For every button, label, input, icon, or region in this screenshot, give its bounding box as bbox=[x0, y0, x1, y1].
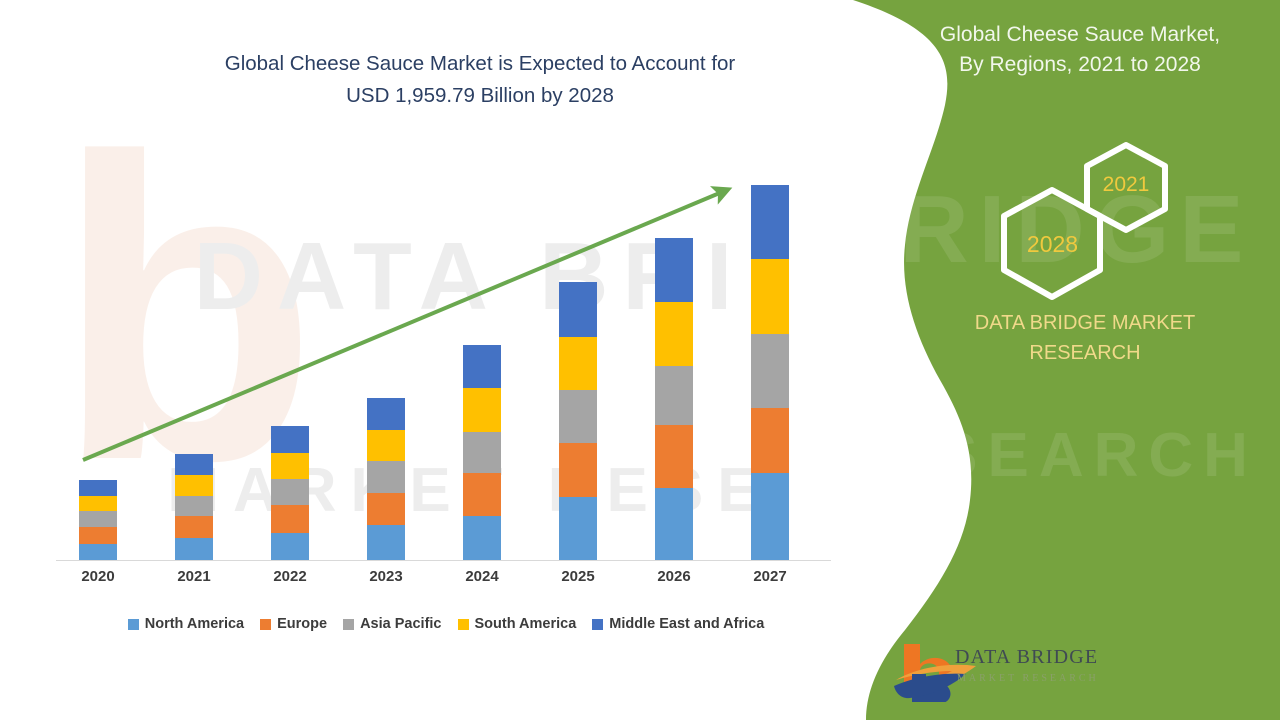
x-tick-2022: 2022 bbox=[252, 568, 328, 585]
legend-item-asia-pacific[interactable]: Asia Pacific bbox=[343, 616, 441, 632]
bar-column-2020[interactable] bbox=[79, 480, 117, 560]
chart-legend: North AmericaEuropeAsia PacificSouth Ame… bbox=[56, 616, 836, 632]
bar-segment-middle-east-and-africa[interactable] bbox=[559, 282, 597, 337]
bar-segment-middle-east-and-africa[interactable] bbox=[367, 398, 405, 430]
bar-segment-south-america[interactable] bbox=[367, 430, 405, 461]
bar-segment-asia-pacific[interactable] bbox=[463, 432, 501, 473]
legend-swatch-north-america bbox=[128, 619, 139, 630]
legend-item-europe[interactable]: Europe bbox=[260, 616, 327, 632]
panel-title-line-2: By Regions, 2021 to 2028 bbox=[900, 50, 1260, 80]
bar-segment-asia-pacific[interactable] bbox=[751, 334, 789, 408]
x-tick-2025: 2025 bbox=[540, 568, 616, 585]
bar-segment-north-america[interactable] bbox=[79, 544, 117, 560]
hexagon-label-2028: 2028 bbox=[995, 231, 1110, 258]
bar-segment-south-america[interactable] bbox=[79, 496, 117, 511]
legend-item-south-america[interactable]: South America bbox=[458, 616, 577, 632]
x-tick-2027: 2027 bbox=[732, 568, 808, 585]
legend-label-asia-pacific: Asia Pacific bbox=[360, 616, 441, 632]
bar-segment-europe[interactable] bbox=[271, 505, 309, 533]
bar-column-2027[interactable] bbox=[751, 185, 789, 560]
bar-column-2022[interactable] bbox=[271, 426, 309, 560]
bar-segment-middle-east-and-africa[interactable] bbox=[175, 454, 213, 475]
chart-plot-area bbox=[56, 160, 831, 560]
panel-watermark-line-2: RESEARCH bbox=[830, 420, 1258, 491]
x-tick-2026: 2026 bbox=[636, 568, 712, 585]
panel-title-line-1: Global Cheese Sauce Market, bbox=[900, 20, 1260, 50]
legend-label-south-america: South America bbox=[475, 616, 577, 632]
legend-item-middle-east-and-africa[interactable]: Middle East and Africa bbox=[592, 616, 764, 632]
bar-segment-south-america[interactable] bbox=[175, 475, 213, 496]
bar-column-2025[interactable] bbox=[559, 282, 597, 560]
bar-segment-north-america[interactable] bbox=[271, 533, 309, 560]
bar-segment-north-america[interactable] bbox=[367, 525, 405, 560]
bar-segment-asia-pacific[interactable] bbox=[559, 390, 597, 443]
x-axis-line bbox=[56, 560, 831, 561]
bar-segment-asia-pacific[interactable] bbox=[655, 366, 693, 425]
bar-segment-middle-east-and-africa[interactable] bbox=[655, 238, 693, 302]
bar-segment-south-america[interactable] bbox=[271, 453, 309, 479]
x-tick-2020: 2020 bbox=[60, 568, 136, 585]
panel-title: Global Cheese Sauce Market, By Regions, … bbox=[900, 20, 1260, 80]
bar-segment-middle-east-and-africa[interactable] bbox=[463, 345, 501, 388]
logo-subwordmark: MARKET RESEARCH bbox=[957, 673, 1099, 684]
infographic-canvas: b DATA BRI MARKET RESE BRIDGE RESEARCH G… bbox=[0, 0, 1280, 720]
legend-label-north-america: North America bbox=[145, 616, 244, 632]
bar-column-2023[interactable] bbox=[367, 398, 405, 560]
bar-segment-asia-pacific[interactable] bbox=[79, 511, 117, 527]
legend-label-middle-east-and-africa: Middle East and Africa bbox=[609, 616, 764, 632]
bar-segment-europe[interactable] bbox=[175, 516, 213, 538]
chart-title: Global Cheese Sauce Market is Expected t… bbox=[110, 48, 850, 112]
x-tick-2023: 2023 bbox=[348, 568, 424, 585]
x-tick-2024: 2024 bbox=[444, 568, 520, 585]
bar-segment-north-america[interactable] bbox=[175, 538, 213, 560]
bar-segment-north-america[interactable] bbox=[751, 473, 789, 560]
bar-column-2024[interactable] bbox=[463, 345, 501, 560]
bar-segment-europe[interactable] bbox=[655, 425, 693, 488]
bar-segment-north-america[interactable] bbox=[463, 516, 501, 560]
chart-title-line-1: Global Cheese Sauce Market is Expected t… bbox=[110, 48, 850, 80]
panel-brand-line-1: DATA BRIDGE MARKET bbox=[950, 308, 1220, 338]
legend-label-europe: Europe bbox=[277, 616, 327, 632]
x-tick-2021: 2021 bbox=[156, 568, 232, 585]
legend-swatch-europe bbox=[260, 619, 271, 630]
bar-segment-middle-east-and-africa[interactable] bbox=[751, 185, 789, 259]
bar-segment-north-america[interactable] bbox=[559, 497, 597, 560]
legend-swatch-middle-east-and-africa bbox=[592, 619, 603, 630]
bar-column-2021[interactable] bbox=[175, 454, 213, 560]
bar-segment-south-america[interactable] bbox=[559, 337, 597, 390]
bar-segment-north-america[interactable] bbox=[655, 488, 693, 560]
legend-swatch-asia-pacific bbox=[343, 619, 354, 630]
bar-segment-asia-pacific[interactable] bbox=[367, 461, 405, 493]
bar-segment-south-america[interactable] bbox=[463, 388, 501, 432]
logo-wordmark: DATA BRIDGE bbox=[955, 646, 1098, 669]
bar-segment-europe[interactable] bbox=[79, 527, 117, 544]
legend-swatch-south-america bbox=[458, 619, 469, 630]
bar-segment-middle-east-and-africa[interactable] bbox=[79, 480, 117, 496]
panel-brand-line-2: RESEARCH bbox=[950, 338, 1220, 368]
bar-segment-europe[interactable] bbox=[559, 443, 597, 497]
bar-segment-europe[interactable] bbox=[463, 473, 501, 516]
bar-column-2026[interactable] bbox=[655, 238, 693, 560]
bar-segment-asia-pacific[interactable] bbox=[175, 496, 213, 516]
hexagon-badge-2028: 2028 bbox=[995, 185, 1110, 303]
bar-segment-south-america[interactable] bbox=[655, 302, 693, 366]
bar-segment-europe[interactable] bbox=[367, 493, 405, 525]
bar-segment-asia-pacific[interactable] bbox=[271, 479, 309, 505]
bar-segment-middle-east-and-africa[interactable] bbox=[271, 426, 309, 453]
bar-segment-south-america[interactable] bbox=[751, 259, 789, 334]
bar-segment-europe[interactable] bbox=[751, 408, 789, 473]
chart-title-line-2: USD 1,959.79 Billion by 2028 bbox=[110, 80, 850, 112]
panel-brand-text: DATA BRIDGE MARKET RESEARCH bbox=[950, 308, 1220, 368]
legend-item-north-america[interactable]: North America bbox=[128, 616, 244, 632]
